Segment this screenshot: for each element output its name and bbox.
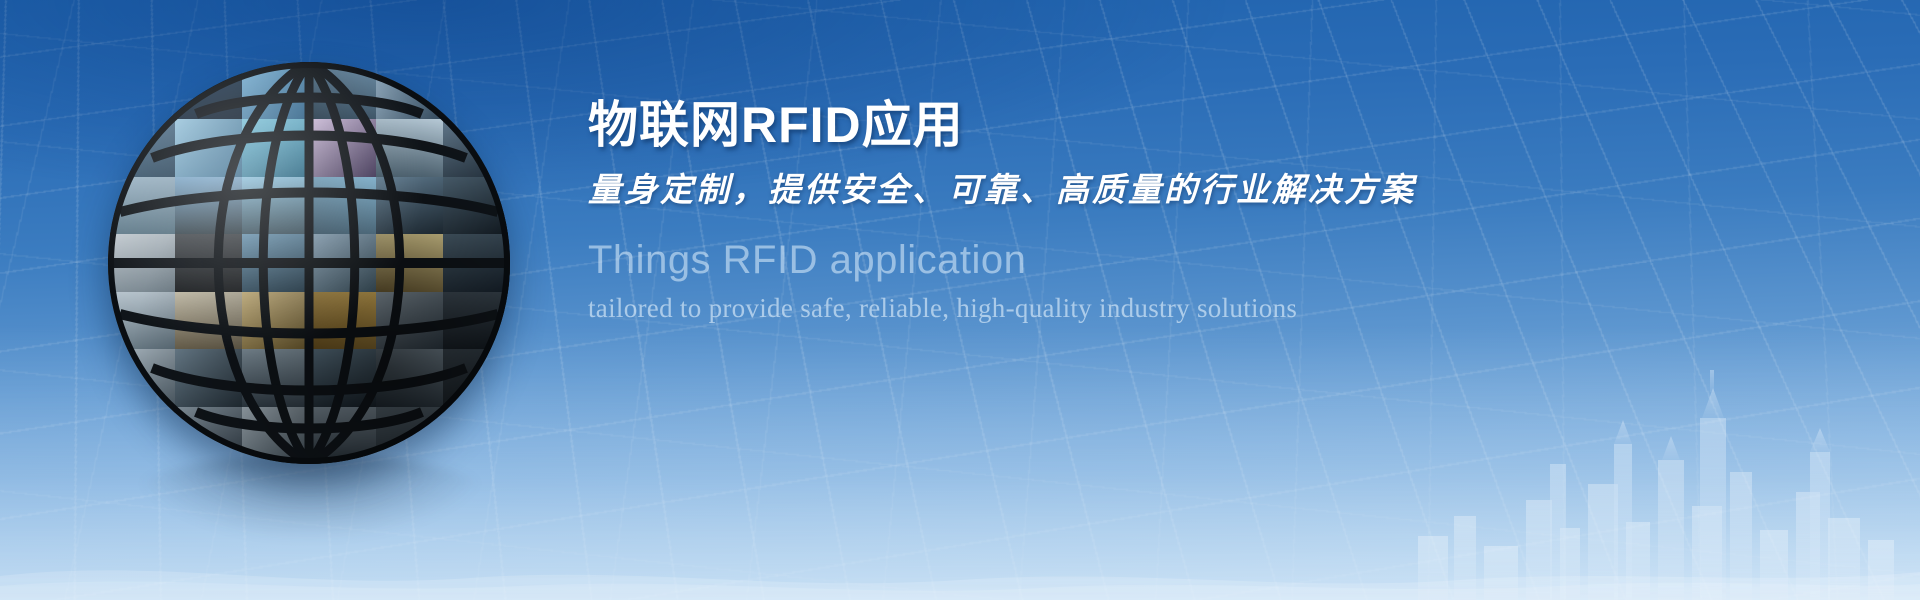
- headline-english: Things RFID application: [588, 238, 1688, 282]
- page-title: 物联网RFID应用: [588, 96, 1688, 154]
- globe-shadow: [130, 454, 490, 540]
- banner-copy: 物联网RFID应用 量身定制，提供安全、可靠、高质量的行业解决方案 Things…: [588, 96, 1688, 324]
- subtitle-chinese: 量身定制，提供安全、可靠、高质量的行业解决方案: [588, 172, 1688, 212]
- globe-image-tiles: [108, 62, 510, 464]
- city-skyline-silhouette: [1400, 340, 1920, 600]
- bottom-wave-divider: [0, 542, 1920, 600]
- tagline-english: tailored to provide safe, reliable, high…: [588, 292, 1688, 324]
- rfid-hero-banner: 物联网RFID应用 量身定制，提供安全、可靠、高质量的行业解决方案 Things…: [0, 0, 1920, 600]
- photo-mosaic-globe: [108, 62, 510, 464]
